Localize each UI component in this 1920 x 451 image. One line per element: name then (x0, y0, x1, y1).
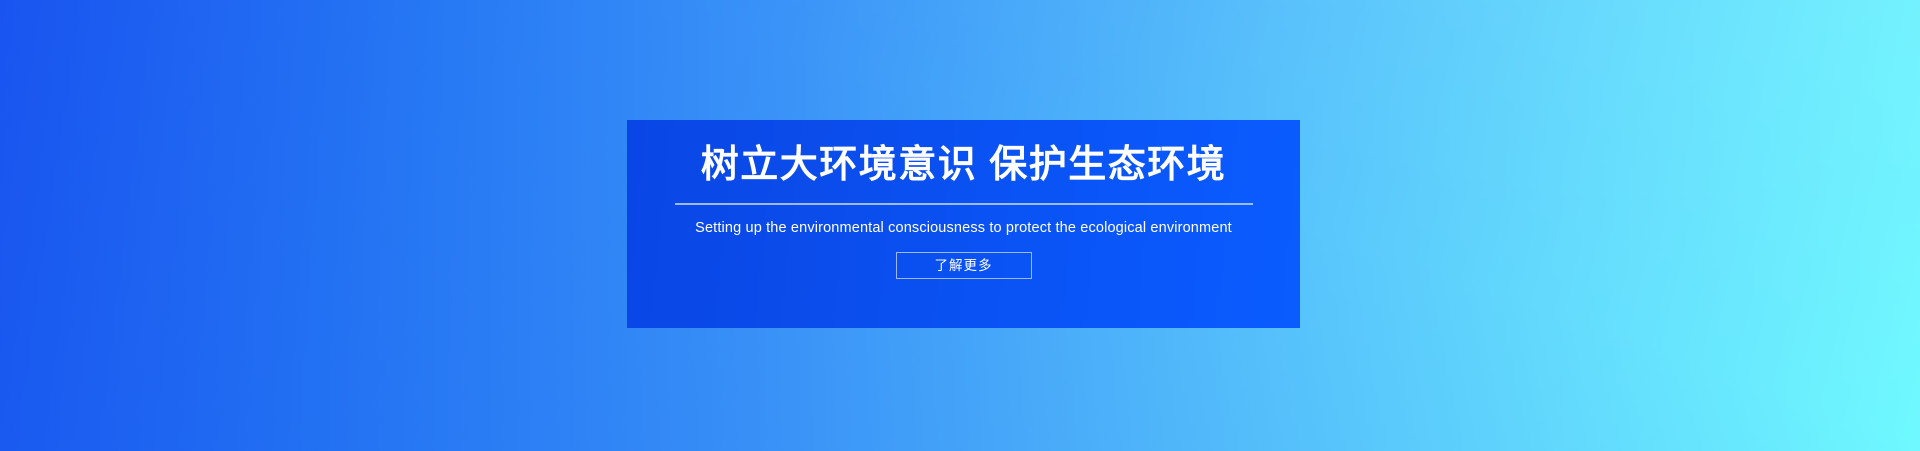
hero-banner: 树立大环境意识 保护生态环境 Setting up the environmen… (0, 0, 1920, 451)
hero-content-panel: 树立大环境意识 保护生态环境 Setting up the environmen… (627, 120, 1300, 328)
learn-more-button[interactable]: 了解更多 (896, 252, 1032, 279)
page-subtitle: Setting up the environmental consciousne… (695, 220, 1232, 237)
page-title: 树立大环境意识 保护生态环境 (701, 142, 1227, 190)
title-divider (675, 203, 1253, 205)
